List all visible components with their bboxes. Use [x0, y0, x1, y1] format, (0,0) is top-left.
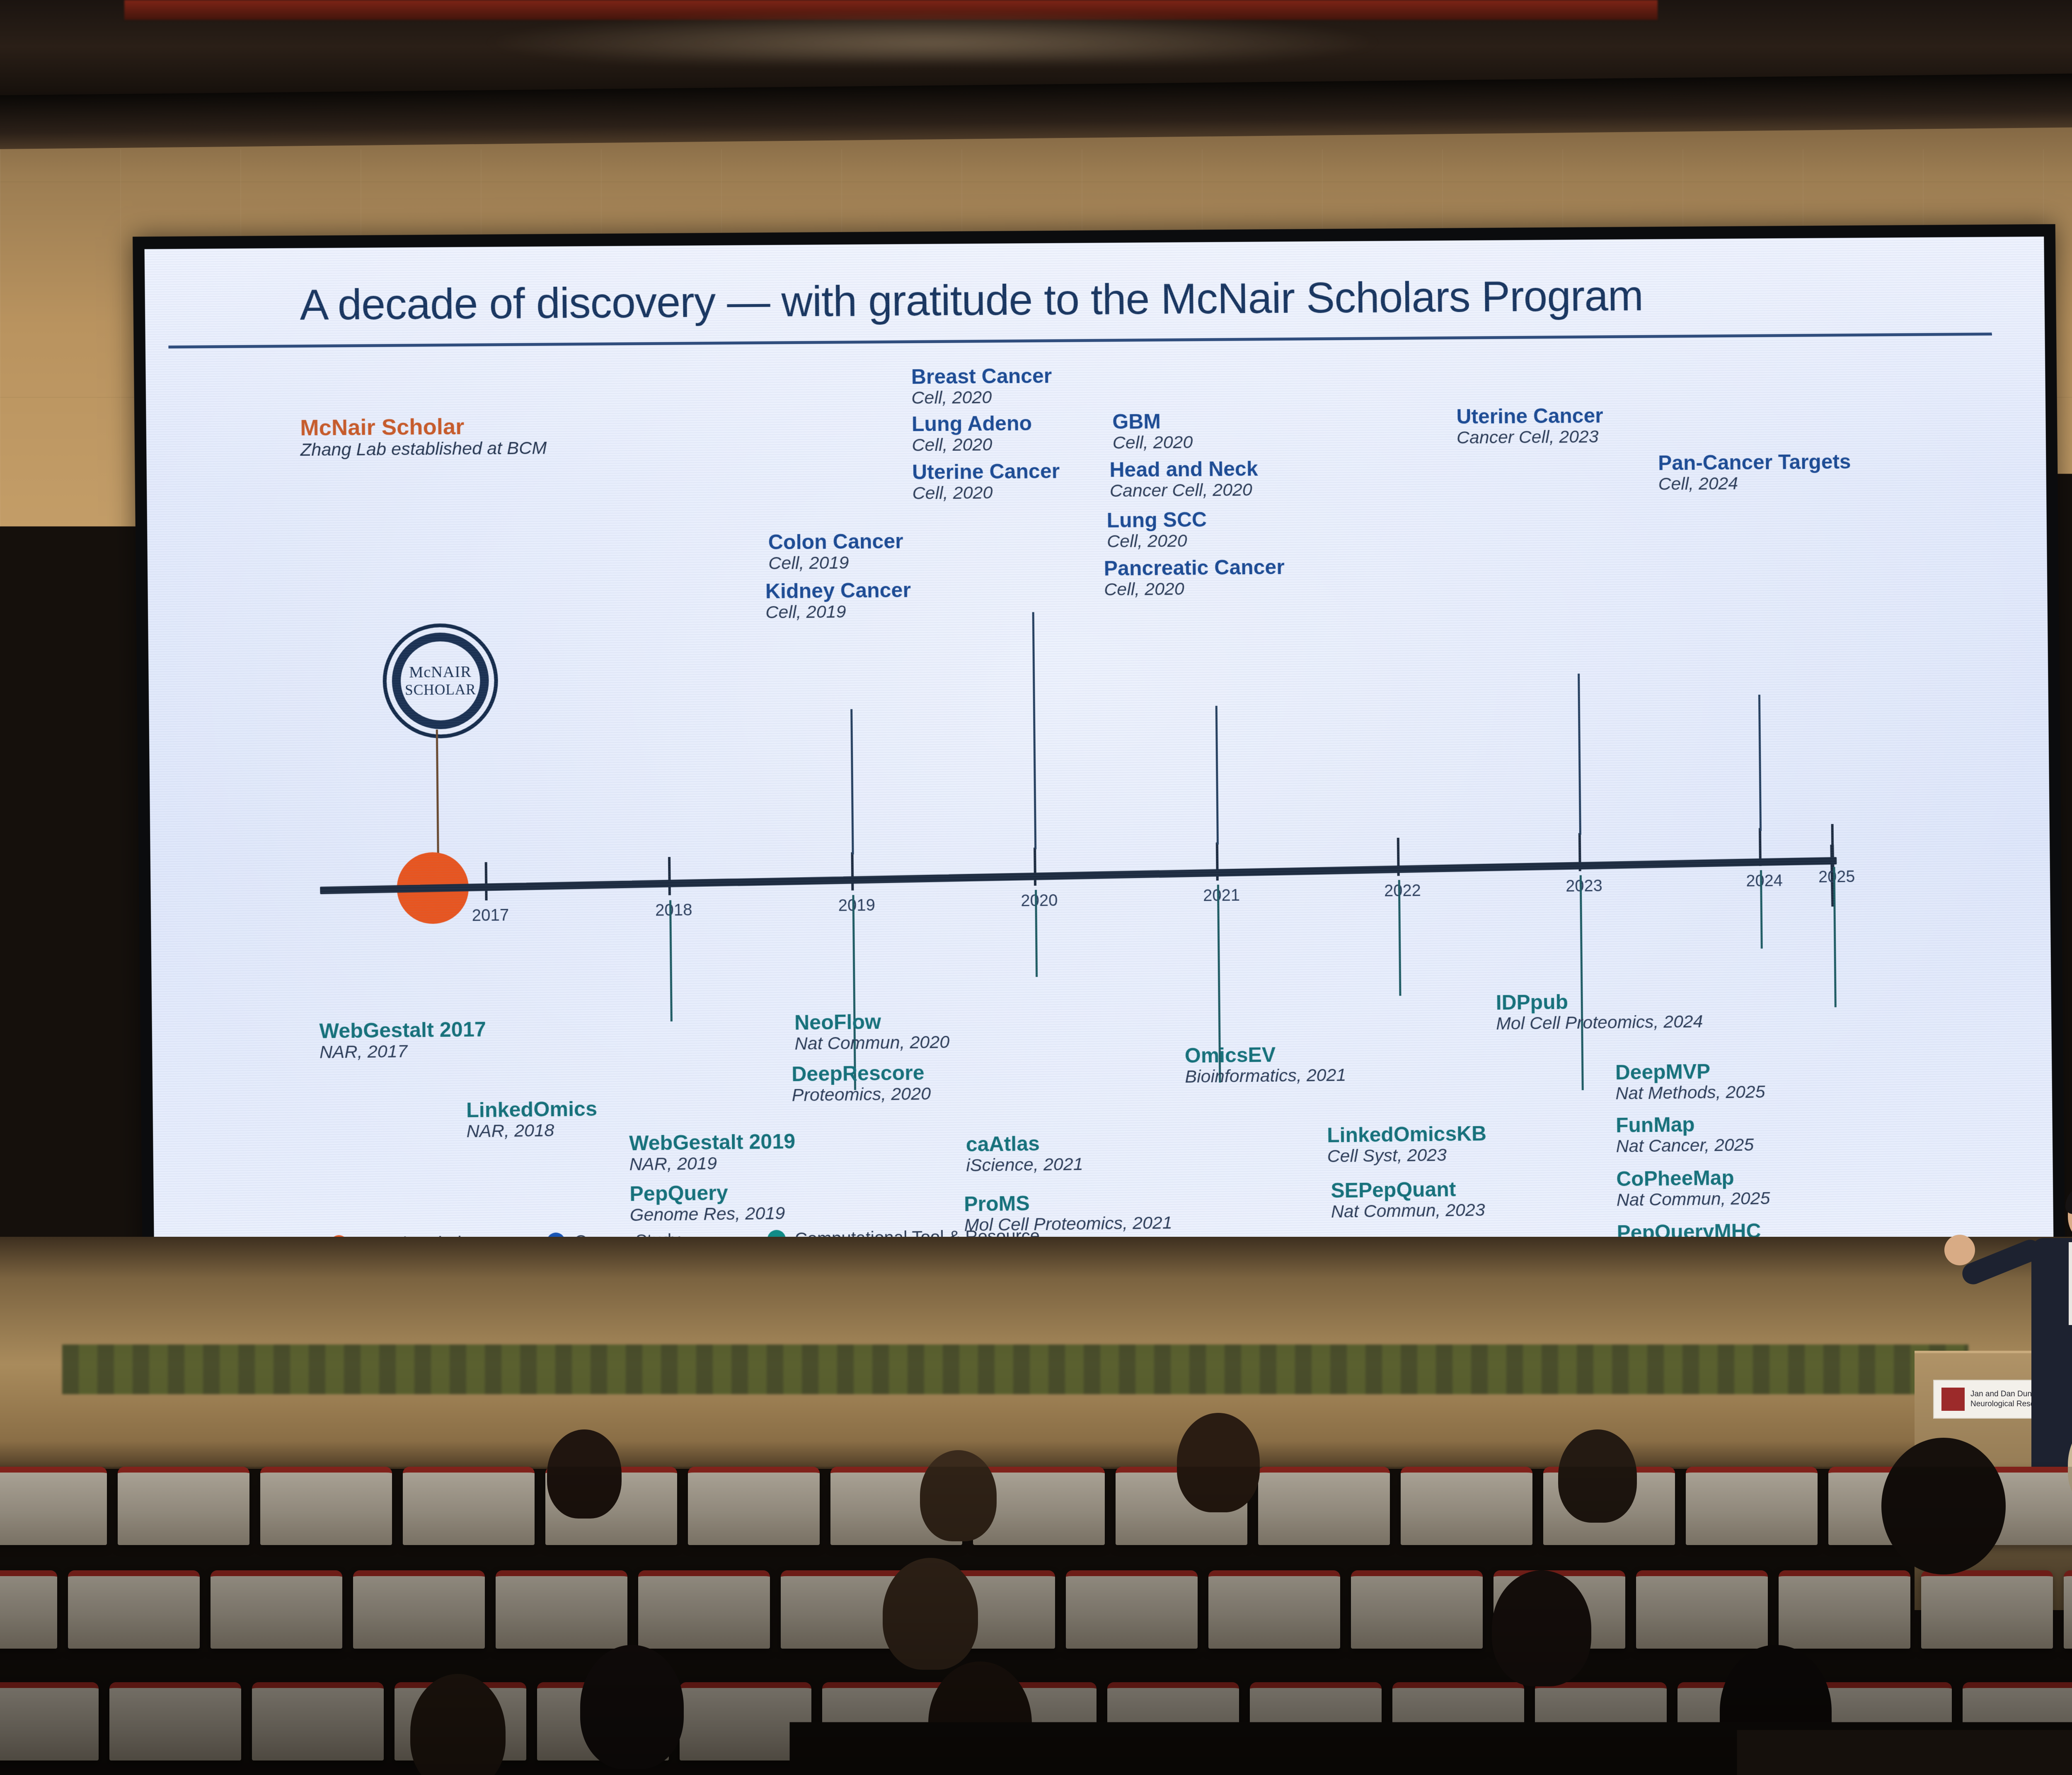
entry-name: Pancreatic Cancer	[1104, 556, 1284, 580]
seat	[688, 1467, 820, 1545]
timeline-entry-kidney-cancer: Kidney Cancer Cell, 2019	[765, 579, 911, 622]
entry-source: Zhang Lab established at BCM	[300, 438, 547, 460]
entry-name: WebGestalt 2017	[319, 1018, 486, 1042]
entry-source: Cell, 2020	[1107, 531, 1207, 551]
timeline-entry-pancreatic-cancer: Pancreatic Cancer Cell, 2020	[1104, 556, 1285, 600]
seal-line-2: SCHOLAR	[405, 681, 476, 699]
leader-line-2019-above	[850, 709, 854, 855]
seat	[260, 1467, 392, 1545]
entry-source: Nat Commun, 2020	[794, 1032, 949, 1054]
entry-name: IDPpub	[1496, 990, 1703, 1014]
seat	[496, 1570, 627, 1649]
seat	[353, 1570, 485, 1649]
entry-name: Lung Adeno	[912, 412, 1032, 435]
seat	[1250, 1682, 1382, 1760]
entry-name: FunMap	[1616, 1113, 1754, 1137]
seal-line-1: McNAIR	[409, 663, 472, 682]
entry-source: Mol Cell Proteomics, 2024	[1496, 1011, 1703, 1033]
seat	[1820, 1682, 1952, 1760]
leader-line-2024-above	[1758, 695, 1762, 831]
audience-head	[1881, 1438, 2006, 1574]
axis-tick-2021	[1216, 842, 1219, 880]
axis-tick-2020	[1034, 848, 1036, 886]
entry-source: iScience, 2021	[966, 1154, 1083, 1175]
projection-screen: A decade of discovery — with gratitude t…	[133, 224, 2066, 1372]
entry-source: NAR, 2019	[629, 1153, 795, 1175]
seat	[403, 1467, 535, 1545]
seat	[0, 1570, 57, 1649]
seat	[1107, 1682, 1239, 1760]
audience-head	[1177, 1413, 1260, 1512]
seat	[109, 1682, 241, 1760]
entry-name: PepQuery	[629, 1181, 785, 1205]
seat	[680, 1682, 811, 1760]
audience-head	[920, 1450, 997, 1541]
presenter	[2022, 1189, 2072, 1487]
presenter-suit	[2031, 1238, 2072, 1487]
timeline-entry-webgestalt-2017: WebGestalt 2017 NAR, 2017	[319, 1018, 486, 1062]
audience-head	[1492, 1570, 1591, 1686]
seat	[1779, 1570, 1910, 1649]
conference-room-photo: A decade of discovery — with gratitude t…	[0, 0, 2072, 1775]
axis-label-2024: 2024	[1746, 872, 1783, 891]
presenter-hair	[2065, 1185, 2072, 1214]
entry-source: NAR, 2018	[466, 1120, 597, 1141]
entry-source: Bioinformatics, 2021	[1185, 1065, 1346, 1087]
entry-source: NAR, 2017	[320, 1040, 487, 1062]
entry-source: Cell, 2020	[912, 434, 1032, 455]
stage-plants	[62, 1345, 1968, 1394]
seat	[68, 1570, 200, 1649]
timeline-entry-webgestalt-2019: WebGestalt 2019 NAR, 2019	[629, 1131, 796, 1175]
entry-name: Pan-Cancer Targets	[1658, 451, 1851, 474]
timeline-entry-pan-cancer-targets: Pan-Cancer Targets Cell, 2024	[1658, 451, 1851, 494]
timeline-entry-uterine-cancer-2023: Uterine Cancer Cancer Cell, 2023	[1456, 405, 1603, 448]
seat	[252, 1682, 384, 1760]
entry-source: Cell Syst, 2023	[1327, 1144, 1486, 1166]
axis-label-2019: 2019	[838, 896, 875, 915]
timeline-entry-gbm: GBM Cell, 2020	[1112, 410, 1193, 453]
seat	[638, 1570, 770, 1649]
seat	[1535, 1682, 1667, 1760]
entry-name: McNair Scholar	[300, 414, 547, 440]
entry-source: Cell, 2024	[1658, 473, 1851, 494]
entry-name: Breast Cancer	[911, 365, 1052, 388]
entry-name: Head and Neck	[1109, 458, 1258, 481]
entry-name: DeepRescore	[792, 1062, 931, 1086]
entry-name: ProMS	[964, 1191, 1172, 1215]
entry-name: WebGestalt 2019	[629, 1131, 795, 1155]
entry-source: Proteomics, 2020	[792, 1084, 931, 1105]
ceiling-light-glow	[477, 12, 1388, 62]
wall-speaker-left	[17, 965, 62, 1044]
entry-name: LinkedOmicsKB	[1327, 1123, 1486, 1146]
timeline-entry-lung-adeno: Lung Adeno Cell, 2020	[912, 412, 1032, 455]
timeline-entry-colon-cancer: Colon Cancer Cell, 2019	[768, 530, 903, 573]
title-divider	[168, 333, 1992, 348]
leader-line-2023-above	[1578, 674, 1581, 835]
entry-source: Cell, 2020	[1104, 578, 1285, 600]
seat	[118, 1467, 249, 1545]
entry-source: Nat Commun, 2023	[1331, 1200, 1485, 1221]
entry-source: Nat Methods, 2025	[1615, 1082, 1765, 1103]
seat	[1208, 1570, 1340, 1649]
entry-source: Cell, 2020	[1113, 432, 1193, 453]
entry-source: Cell, 2019	[765, 601, 911, 622]
entry-name: caAtlas	[966, 1132, 1083, 1156]
entry-source: Cell, 2020	[912, 482, 1060, 503]
audience-head	[1720, 1645, 1832, 1775]
timeline-entry-idppub: IDPpub Mol Cell Proteomics, 2024	[1496, 990, 1703, 1034]
entry-name: Lung SCC	[1106, 509, 1207, 532]
audience-head	[1558, 1429, 1637, 1523]
entry-name: Uterine Cancer	[912, 460, 1060, 484]
axis-tick-2019	[851, 852, 854, 890]
entry-name: NeoFlow	[794, 1010, 949, 1034]
institute-logo-icon	[1941, 1388, 1965, 1411]
axis-tick-2017	[485, 862, 488, 900]
timeline-entry-sepepquant: SEPepQuant Nat Commun, 2023	[1331, 1178, 1485, 1221]
timeline-entry-funmap: FunMap Nat Cancer, 2025	[1616, 1113, 1754, 1156]
seat	[1258, 1467, 1390, 1545]
entry-name: CoPheeMap	[1616, 1166, 1770, 1190]
leader-line-2019-below	[852, 895, 857, 1090]
axis-label-2017: 2017	[472, 906, 509, 925]
timeline-entry-linkedomics: LinkedOmics NAR, 2018	[466, 1098, 598, 1141]
timeline-entry-caatlas: caAtlas iScience, 2021	[966, 1132, 1083, 1175]
entry-name: LinkedOmics	[466, 1098, 597, 1122]
entry-source: Nat Cancer, 2025	[1616, 1135, 1754, 1156]
seat-row-1	[0, 1467, 2072, 1545]
audience-seating	[0, 1467, 2072, 1775]
leader-line-2020-above	[1032, 612, 1036, 849]
presenter-hand	[1944, 1235, 1975, 1265]
axis-tick-2025	[1831, 824, 1834, 862]
seat	[1066, 1570, 1198, 1649]
mcnair-scholar-seal: McNAIR SCHOLAR	[382, 623, 499, 739]
axis-label-2022: 2022	[1384, 881, 1421, 900]
audience-head	[883, 1558, 978, 1670]
entry-source: Genome Res, 2019	[630, 1203, 785, 1225]
entry-name: DeepMVP	[1615, 1060, 1765, 1083]
presenter-shirt	[2069, 1242, 2072, 1325]
seat	[1401, 1467, 1532, 1545]
seat	[1963, 1682, 2072, 1760]
leader-line-2023-below	[1580, 875, 1584, 1090]
timeline-entry-pepquery: PepQuery Genome Res, 2019	[629, 1181, 785, 1225]
axis-tick-2018	[668, 857, 671, 895]
seat	[0, 1467, 107, 1545]
seat-row-2	[0, 1570, 2072, 1649]
seat	[1921, 1570, 2053, 1649]
timeline-entry-head-and-neck: Head and Neck Cancer Cell, 2020	[1109, 458, 1258, 501]
entry-name: GBM	[1112, 410, 1193, 433]
leader-line-2025-below	[1833, 867, 1837, 1007]
entry-source: Cell, 2020	[911, 387, 1052, 408]
seat	[0, 1682, 99, 1760]
entry-name: Kidney Cancer	[765, 579, 911, 602]
axis-label-2018: 2018	[655, 901, 692, 920]
timeline-entry-lung-scc: Lung SCC Cell, 2020	[1106, 509, 1207, 551]
entry-name: Colon Cancer	[768, 530, 903, 554]
seat	[1351, 1570, 1483, 1649]
timeline-entry-deeprescore: DeepRescore Proteomics, 2020	[792, 1062, 931, 1105]
entry-source: Cell, 2019	[768, 552, 903, 573]
audience-head	[580, 1645, 684, 1769]
timeline-entry-neoflow: NeoFlow Nat Commun, 2020	[794, 1010, 950, 1054]
slide-title: A decade of discovery — with gratitude t…	[300, 270, 1916, 330]
timeline-axis	[320, 857, 1837, 894]
axis-label-2025: 2025	[1818, 868, 1855, 887]
axis-tick-2024	[1759, 828, 1762, 866]
timeline-entry-scholar: McNair Scholar Zhang Lab established at …	[300, 414, 547, 460]
seat	[1686, 1467, 1818, 1545]
timeline-entry-linkedomicskb: LinkedOmicsKB Cell Syst, 2023	[1327, 1123, 1487, 1166]
axis-tick-2023	[1578, 833, 1581, 871]
timeline-entry-breast-cancer: Breast Cancer Cell, 2020	[911, 365, 1052, 408]
timeline-entry-copheemap: CoPheeMap Nat Commun, 2025	[1616, 1166, 1770, 1210]
audience-head	[928, 1661, 1032, 1775]
axis-label-2021: 2021	[1203, 886, 1240, 905]
seat	[211, 1570, 342, 1649]
axis-tick-2022	[1397, 838, 1400, 876]
presentation-slide: A decade of discovery — with gratitude t…	[145, 237, 2055, 1357]
timeline-entry-uterine-cancer-2020: Uterine Cancer Cell, 2020	[912, 460, 1060, 503]
audience-head	[547, 1429, 622, 1519]
seat	[2064, 1570, 2072, 1649]
seat	[1392, 1682, 1524, 1760]
entry-name: OmicsEV	[1185, 1043, 1346, 1067]
entry-name: SEPepQuant	[1331, 1178, 1485, 1202]
entry-source: Cancer Cell, 2023	[1457, 427, 1603, 448]
seat	[1636, 1570, 1768, 1649]
axis-label-2023: 2023	[1566, 877, 1602, 896]
timeline-entry-deepmvp: DeepMVP Nat Methods, 2025	[1615, 1060, 1765, 1103]
entry-source: Nat Commun, 2025	[1617, 1188, 1770, 1210]
axis-label-2020: 2020	[1021, 891, 1058, 910]
leader-line-2021-above	[1215, 706, 1219, 845]
entry-source: Cancer Cell, 2020	[1110, 480, 1259, 501]
entry-name: Uterine Cancer	[1456, 405, 1603, 428]
timeline-entry-omicsev: OmicsEV Bioinformatics, 2021	[1185, 1043, 1346, 1087]
